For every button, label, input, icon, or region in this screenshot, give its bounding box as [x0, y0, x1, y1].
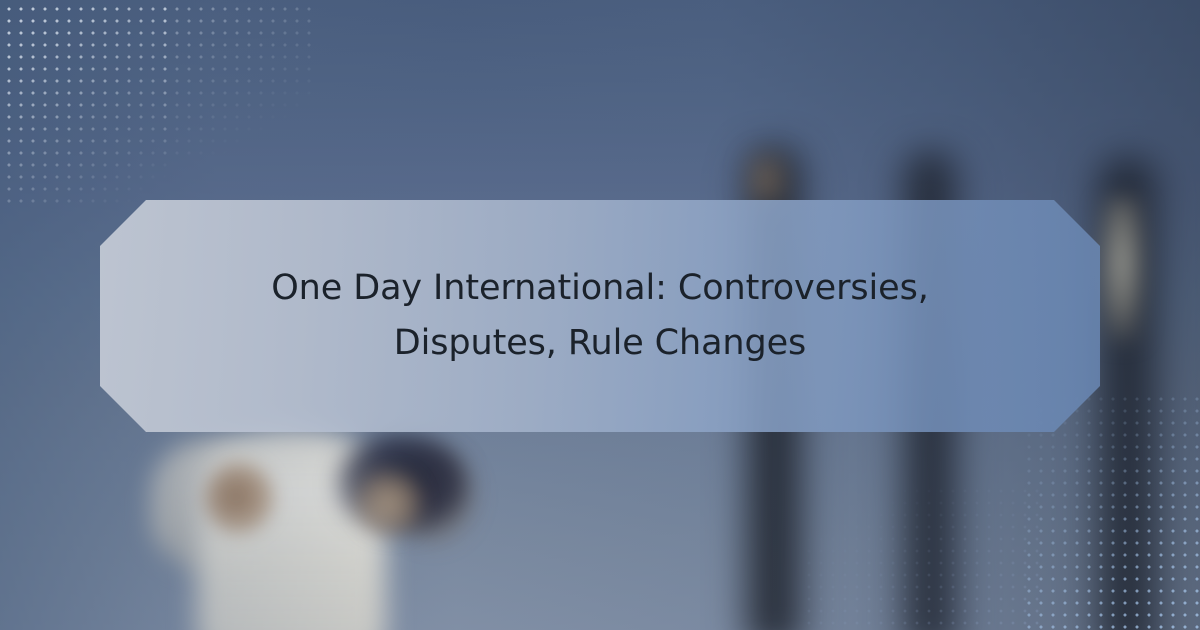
page-title: One Day International: Controversies, Di…	[188, 261, 1012, 372]
share-card-canvas: One Day International: Controversies, Di…	[0, 0, 1200, 630]
title-card: One Day International: Controversies, Di…	[100, 200, 1100, 432]
